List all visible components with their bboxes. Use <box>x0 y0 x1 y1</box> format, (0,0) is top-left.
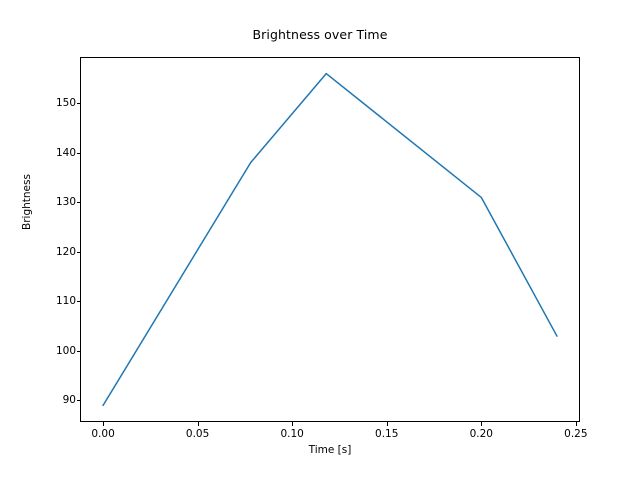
y-tick-mark <box>77 153 81 154</box>
x-tick-mark <box>198 422 199 426</box>
y-tick-label: 90 <box>63 394 76 406</box>
y-tick-mark <box>77 351 81 352</box>
y-tick-label: 140 <box>56 147 76 159</box>
y-tick-label: 110 <box>56 295 76 307</box>
y-tick-label: 100 <box>56 345 76 357</box>
x-tick-mark <box>387 422 388 426</box>
chart-title: Brightness over Time <box>0 27 640 42</box>
x-tick-label: 0.10 <box>280 428 303 440</box>
x-axis-label: Time [s] <box>80 444 580 456</box>
x-tick-label: 0.20 <box>470 428 493 440</box>
brightness-line <box>103 74 557 406</box>
x-tick-label: 0.15 <box>375 428 398 440</box>
x-tick-mark <box>481 422 482 426</box>
x-tick-label: 0.05 <box>186 428 209 440</box>
data-line-svg <box>80 57 580 422</box>
y-tick-mark <box>77 301 81 302</box>
chart-figure: Brightness over Time Brightness 90100110… <box>0 0 640 480</box>
y-tick-mark <box>77 103 81 104</box>
y-tick-mark <box>77 202 81 203</box>
x-tick-label: 0.00 <box>91 428 114 440</box>
x-tick-label: 0.25 <box>564 428 587 440</box>
y-axis-label: Brightness <box>21 142 33 262</box>
y-tick-label: 120 <box>56 246 76 258</box>
y-tick-label: 150 <box>56 97 76 109</box>
x-tick-mark <box>103 422 104 426</box>
plot-area <box>80 57 580 422</box>
y-tick-mark <box>77 252 81 253</box>
x-tick-mark <box>292 422 293 426</box>
y-axis-tick-labels: 90100110120130140150 <box>40 57 76 422</box>
x-axis-tick-labels: 0.000.050.100.150.200.25 <box>80 426 580 442</box>
y-tick-label: 130 <box>56 196 76 208</box>
x-tick-mark <box>576 422 577 426</box>
y-tick-mark <box>77 400 81 401</box>
